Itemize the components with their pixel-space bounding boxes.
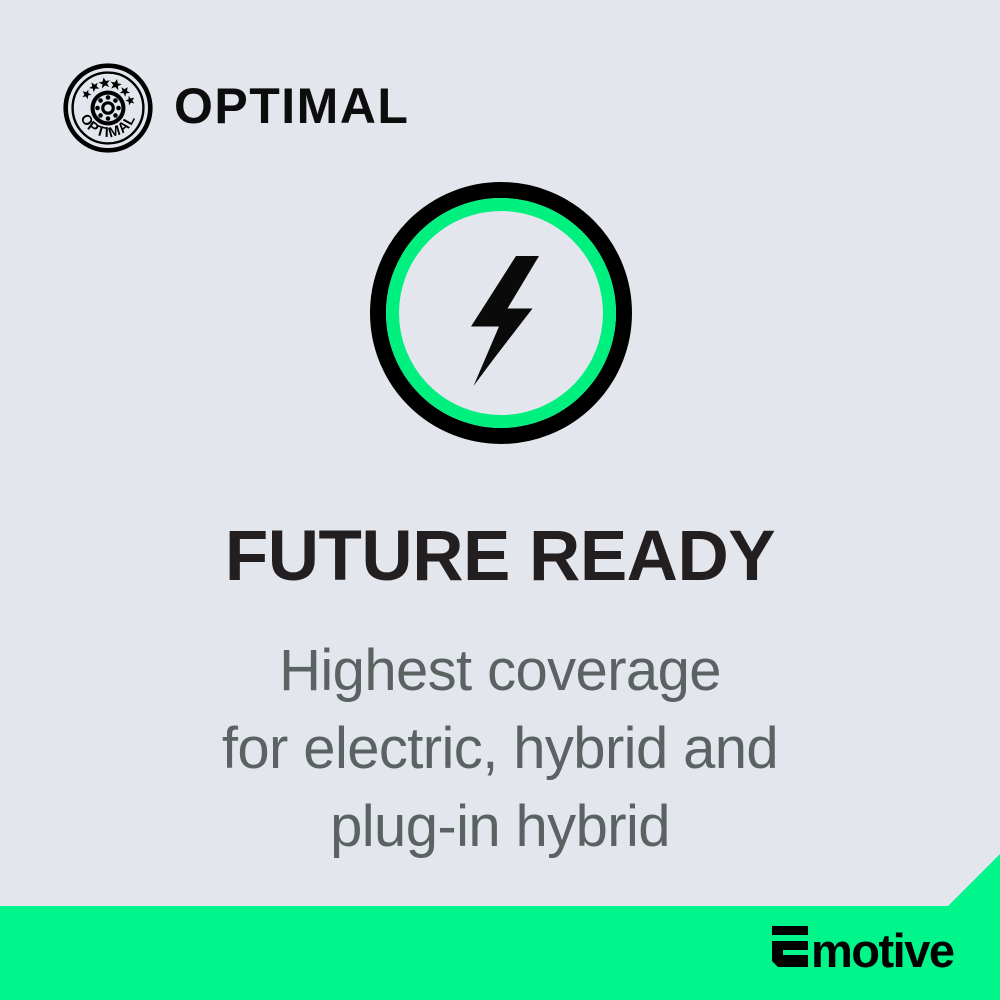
- optimal-seal-icon: OPTIMAL: [62, 62, 154, 154]
- subtitle-line-2: for electric, hybrid and: [0, 710, 1000, 788]
- subtitle-line-1: Highest coverage: [0, 632, 1000, 710]
- brand-wordmark: OPTIMAL: [174, 82, 420, 134]
- page-title: FUTURE READY: [0, 516, 1000, 597]
- svg-text:OPTIMAL: OPTIMAL: [174, 82, 409, 134]
- svg-text:motive: motive: [811, 924, 954, 977]
- promo-card: OPTIMAL: [0, 0, 1000, 1000]
- lightning-bolt-icon: [370, 182, 632, 444]
- subtitle: Highest coverage for electric, hybrid an…: [0, 632, 1000, 866]
- subtitle-line-3: plug-in hybrid: [0, 788, 1000, 866]
- emotive-logo: motive: [770, 922, 966, 978]
- brand-lockup: OPTIMAL: [62, 62, 420, 154]
